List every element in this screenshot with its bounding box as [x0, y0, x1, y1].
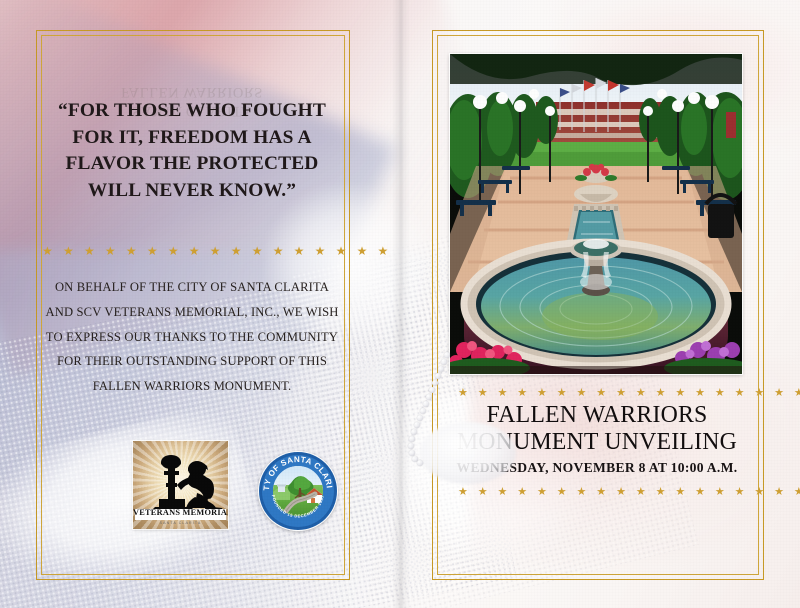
program-cover: SANTA CLARITA FALLEN WARRIORS “FOR THOSE…	[0, 0, 800, 608]
event-title: FALLEN WARRIORS MONUMENT UNVEILING	[440, 402, 754, 455]
event-title-line-2: MONUMENT UNVEILING	[440, 429, 754, 456]
right-panel: ★ ★ ★ ★ ★ ★ ★ ★ ★ ★ ★ ★ ★ ★ ★ ★ ★ ★ FALL…	[432, 30, 762, 578]
plaza-fountain-illustration	[450, 54, 742, 374]
star-divider-left: ★ ★ ★ ★ ★ ★ ★ ★ ★ ★ ★ ★ ★ ★ ★ ★ ★	[42, 244, 342, 258]
acknowledgement-text: ON BEHALF OF THE CITY OF SANTA CLARITA A…	[44, 275, 340, 399]
star-divider-above-title: ★ ★ ★ ★ ★ ★ ★ ★ ★ ★ ★ ★ ★ ★ ★ ★ ★ ★	[458, 386, 736, 399]
left-panel: SANTA CLARITA FALLEN WARRIORS “FOR THOSE…	[36, 30, 348, 578]
event-datetime: WEDNESDAY, NOVEMBER 8 AT 10:00 A.M.	[440, 460, 754, 476]
memorial-quote: “FOR THOSE WHO FOUGHT FOR IT, FREEDOM HA…	[46, 98, 338, 204]
event-title-line-1: FALLEN WARRIORS	[440, 402, 754, 429]
veterans-memorial-logo-name: VETERANS MEMORIAL	[133, 508, 228, 517]
veterans-memorial-logo: VETERANS MEMORIAL SANTA CLARITA	[133, 441, 228, 529]
veterans-memorial-logo-subtitle: SANTA CLARITA	[133, 521, 228, 525]
seal-landscape-icon	[273, 466, 323, 516]
memorial-plaza-photo	[450, 54, 742, 374]
city-of-santa-clarita-seal: CITY OF SANTA CLARITA FOUNDED 15 DECEMBE…	[258, 451, 338, 531]
star-divider-below-subtitle: ★ ★ ★ ★ ★ ★ ★ ★ ★ ★ ★ ★ ★ ★ ★ ★ ★ ★	[458, 485, 736, 498]
seal-scene	[273, 466, 323, 516]
